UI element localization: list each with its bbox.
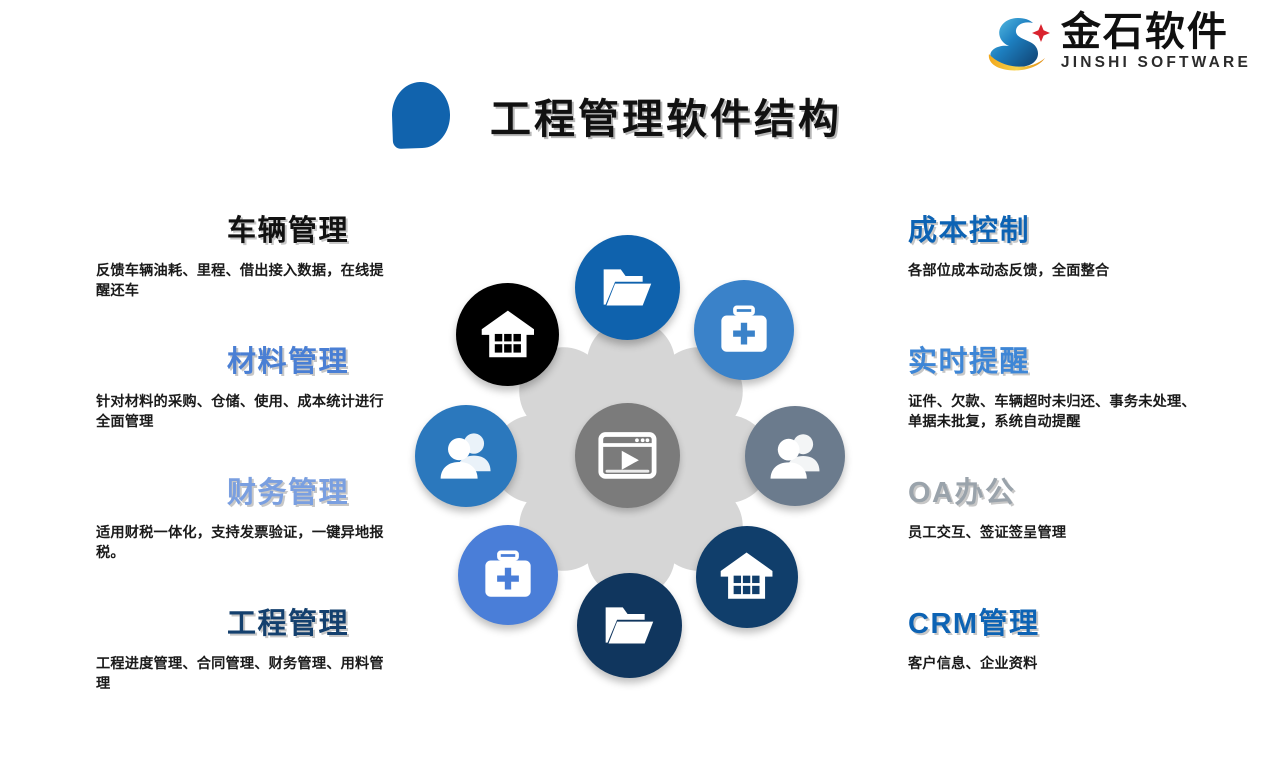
users-icon <box>436 426 495 485</box>
hub-node-medkit-bottomleft[interactable] <box>458 525 558 625</box>
warehouse-icon <box>478 305 538 365</box>
hub-node-users-left[interactable] <box>415 405 517 507</box>
users-icon <box>766 427 824 485</box>
feature-title: 工程管理 <box>96 600 349 642</box>
medical-kit-icon <box>479 546 537 604</box>
feature-item: 车辆管理 反馈车辆油耗、里程、借出接入数据，在线提醒还车 <box>96 207 396 301</box>
warehouse-icon <box>717 547 776 606</box>
folder-icon <box>599 595 660 656</box>
hub-node-center[interactable] <box>575 403 680 508</box>
feature-description: 各部位成本动态反馈，全面整合 <box>908 261 1208 281</box>
medical-kit-icon <box>715 301 773 359</box>
feature-title: CRM管理 <box>908 600 1208 642</box>
feature-description: 员工交互、签证签呈管理 <box>908 523 1208 543</box>
feature-description: 客户信息、企业资料 <box>908 654 1208 674</box>
jinshi-s-mark-icon <box>983 8 1055 74</box>
hub-node-folder-bottom[interactable] <box>577 573 682 678</box>
brand-name-cn: 金石软件 <box>1061 10 1253 54</box>
feature-item: 材料管理 针对材料的采购、仓储、使用、成本统计进行全面管理 <box>96 338 396 432</box>
feature-description: 工程进度管理、合同管理、财务管理、用料管理 <box>96 654 396 694</box>
feature-description: 证件、欠款、车辆超时未归还、事务未处理、单据未批复，系统自动提醒 <box>908 392 1208 432</box>
feature-item: CRM管理 客户信息、企业资料 <box>908 600 1208 674</box>
hub-node-users-right[interactable] <box>745 406 845 506</box>
hub-node-folder-top[interactable] <box>575 235 680 340</box>
feature-description: 适用财税一体化，支持发票验证，一键异地报税。 <box>96 523 396 563</box>
title-droplet-icon <box>391 81 451 149</box>
hub-diagram <box>400 228 862 690</box>
page-title-row: 工程管理软件结构 <box>392 82 842 148</box>
feature-item: 成本控制 各部位成本动态反馈，全面整合 <box>908 207 1208 281</box>
page-title: 工程管理软件结构 <box>490 85 842 145</box>
feature-title: 材料管理 <box>96 338 349 380</box>
video-player-icon <box>597 425 658 486</box>
slide-canvas: 金石软件 JINSHI SOFTWARE 工程管理软件结构 车辆管理 反馈车辆油… <box>0 0 1271 770</box>
feature-item: 财务管理 适用财税一体化，支持发票验证，一键异地报税。 <box>96 469 396 563</box>
feature-item: 工程管理 工程进度管理、合同管理、财务管理、用料管理 <box>96 600 396 694</box>
feature-title: 车辆管理 <box>96 207 349 249</box>
feature-title: 财务管理 <box>96 469 349 511</box>
feature-title: OA办公 <box>908 469 1208 511</box>
hub-node-warehouse-bottomright[interactable] <box>696 526 798 628</box>
folder-icon <box>597 257 658 318</box>
feature-description: 反馈车辆油耗、里程、借出接入数据，在线提醒还车 <box>96 261 396 301</box>
feature-item: 实时提醒 证件、欠款、车辆超时未归还、事务未处理、单据未批复，系统自动提醒 <box>908 338 1208 432</box>
feature-title: 成本控制 <box>908 207 1208 249</box>
feature-item: OA办公 员工交互、签证签呈管理 <box>908 469 1208 543</box>
brand-logo: 金石软件 JINSHI SOFTWARE <box>983 8 1253 74</box>
hub-node-warehouse-topleft[interactable] <box>456 283 559 386</box>
brand-name-en: JINSHI SOFTWARE <box>1061 54 1253 72</box>
feature-description: 针对材料的采购、仓储、使用、成本统计进行全面管理 <box>96 392 396 432</box>
feature-title: 实时提醒 <box>908 338 1208 380</box>
hub-node-medkit-topright[interactable] <box>694 280 794 380</box>
